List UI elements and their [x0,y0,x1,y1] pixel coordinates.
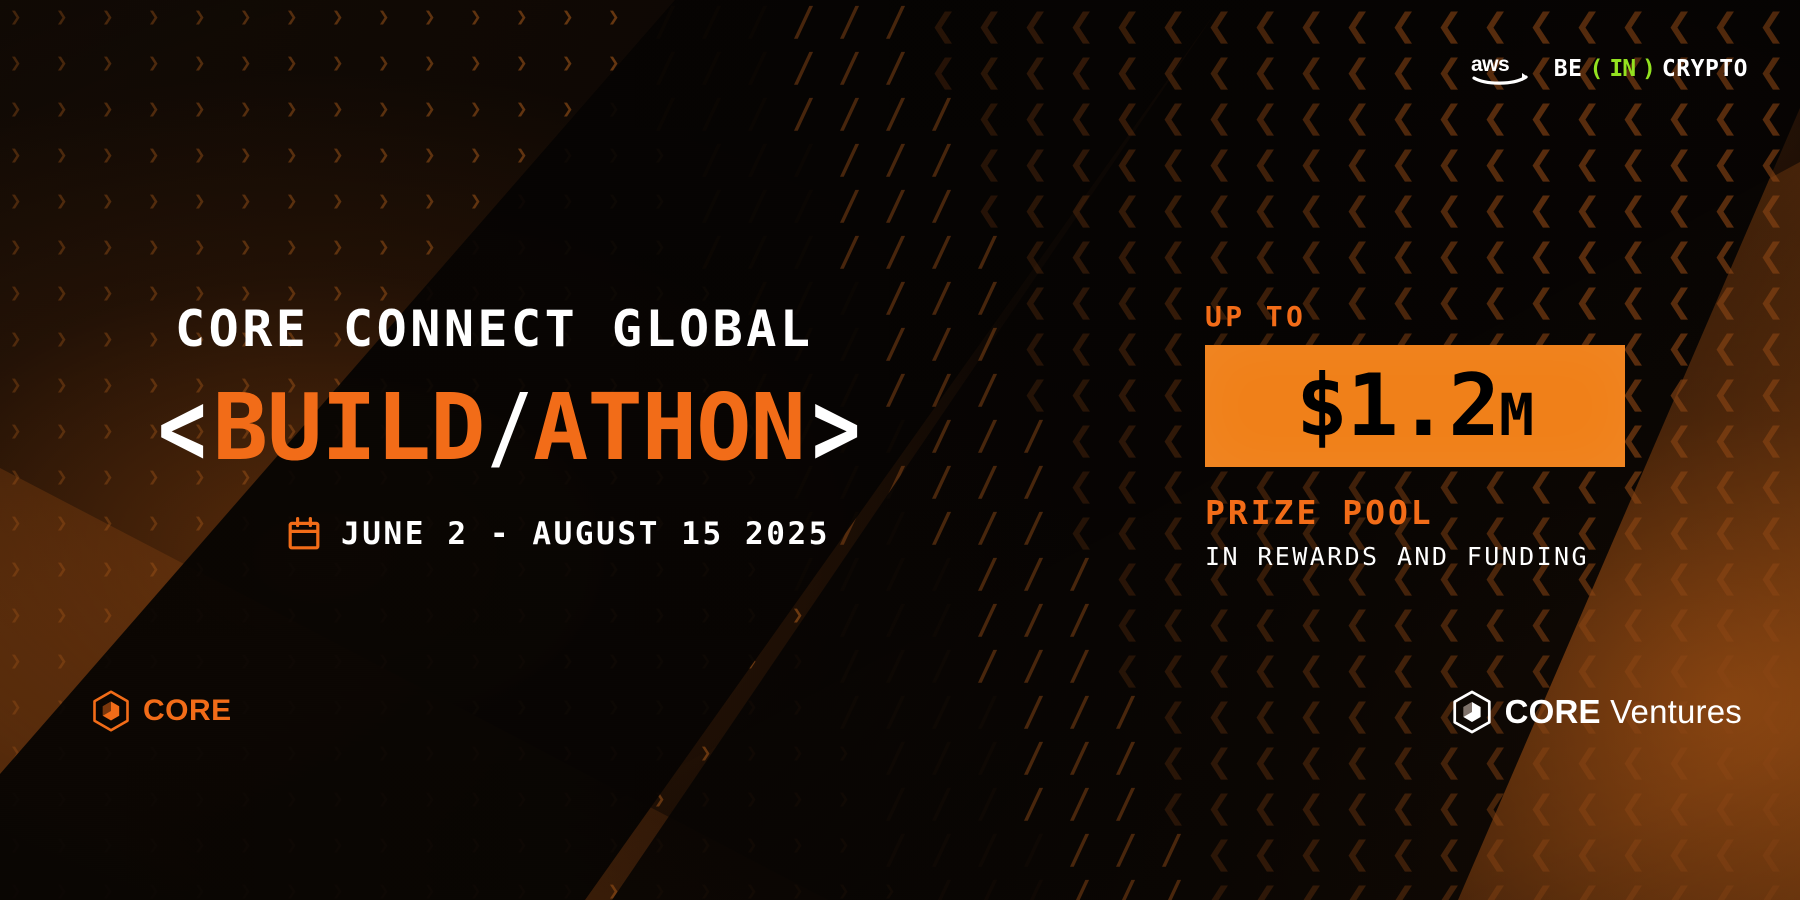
aws-smile-icon: aws [1470,52,1532,86]
buildathon-slash: / [486,382,531,474]
headline-block: CORE CONNECT GLOBAL < BUILD / ATHON > JU… [175,300,867,552]
prize-amount-value: $1.2 [1296,363,1499,449]
buildathon-word-right: ATHON [533,382,805,474]
prize-amount-box: $1.2 M [1205,345,1625,467]
beincrypto-bracket-open: ( [1589,56,1602,82]
beincrypto-middle: IN [1609,56,1635,82]
buildathon-word-left: BUILD [213,382,485,474]
prize-block: UP TO $1.2 M PRIZE POOL IN REWARDS AND F… [1205,300,1635,571]
core-wordmark: CORE [143,694,232,728]
prize-amount: $1.2 M [1296,363,1534,449]
core-ventures-wordmark-bold: CORE [1505,693,1601,730]
beincrypto-suffix: CRYPTO [1662,56,1748,82]
page-title-kicker: CORE CONNECT GLOBAL [175,300,867,358]
angle-bracket-close: > [812,376,860,480]
partner-logos: aws BE ( IN ) CRYPTO [1470,52,1748,86]
calendar-icon [287,517,321,551]
beincrypto-bracket-close: ) [1642,56,1655,82]
buildathon-wordmark: < BUILD / ATHON > [151,376,867,480]
core-ventures-wordmark-light: Ventures [1601,693,1742,730]
core-hex-cube-icon [92,690,130,732]
aws-logo: aws [1470,52,1532,86]
prize-sub-label: IN REWARDS AND FUNDING [1205,542,1635,571]
beincrypto-prefix: BE [1554,56,1583,82]
prize-up-to-label: UP TO [1205,300,1635,333]
beincrypto-logo: BE ( IN ) CRYPTO [1554,56,1748,82]
event-date-text: JUNE 2 - AUGUST 15 2025 [341,516,830,552]
prize-amount-unit: M [1499,386,1534,444]
angle-bracket-open: < [158,376,206,480]
core-ventures-wordmark: CORE Ventures [1505,693,1742,731]
promo-banner: ❯❯❯❯❯❯❯❯❯❯❯❯❯❯∕∕∕❯❯❯❯❯❯❯❯❯❯❯❯❯❯∕∕∕❯❯❯❯❯❯… [0,0,1800,900]
core-logo: CORE [92,690,232,732]
core-ventures-logo: CORE Ventures [1452,690,1742,734]
prize-pool-label: PRIZE POOL [1205,493,1635,532]
event-date-row: JUNE 2 - AUGUST 15 2025 [287,516,867,552]
core-hex-cube-icon [1452,690,1492,734]
svg-text:aws: aws [1471,53,1509,76]
